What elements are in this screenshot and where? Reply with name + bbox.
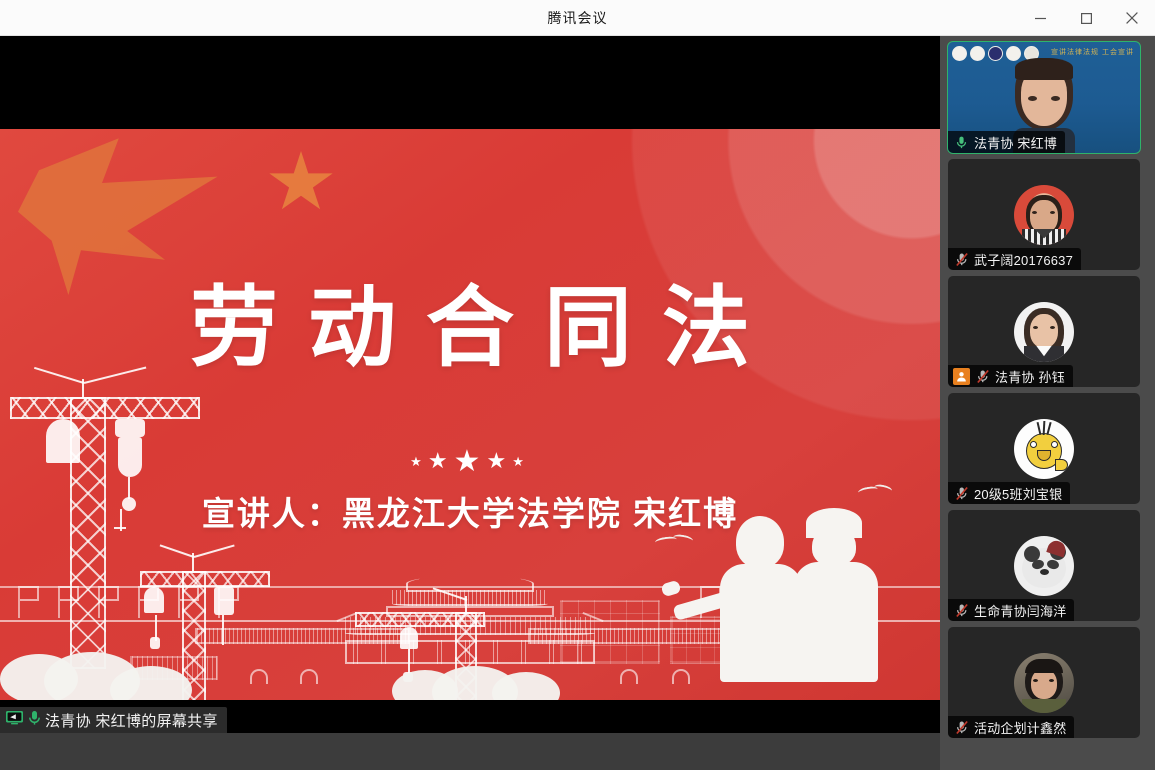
participant-tile-0[interactable]: 宣讲法律法规 工会宣讲 法青协 宋红博 <box>948 42 1140 153</box>
participant-name: 法青协 孙钰 <box>995 367 1065 386</box>
slide-title: 劳动合同法 <box>0 257 940 384</box>
maximize-button[interactable] <box>1063 0 1109 36</box>
letterbox-top <box>0 36 940 129</box>
participant-tile-1[interactable]: 武子阔20176637 <box>948 159 1140 270</box>
participant-tile-2[interactable]: 法青协 孙钰 <box>948 276 1140 387</box>
participant-nameplate: 武子阔20176637 <box>948 248 1081 270</box>
star-decoration <box>268 151 334 215</box>
participant-nameplate: 法青协 宋红博 <box>948 131 1065 153</box>
close-button[interactable] <box>1109 0 1155 36</box>
participant-nameplate: 活动企划计鑫然 <box>948 716 1074 738</box>
participant-nameplate: 20级5班刘宝银 <box>948 482 1070 504</box>
star-row-decoration: ★★★★★ <box>0 447 940 477</box>
scaffolding-decoration <box>560 600 660 664</box>
mic-on-icon <box>28 710 41 731</box>
window-title: 腾讯会议 <box>548 8 608 28</box>
participant-name: 武子阔20176637 <box>974 250 1073 269</box>
bird-icon <box>672 533 693 544</box>
mic-on-icon <box>953 134 970 151</box>
tencent-meeting-window: 腾讯会议 <box>0 0 1155 770</box>
screen-share-icon <box>5 710 24 730</box>
mic-off-icon <box>974 368 991 385</box>
shared-screen-stage[interactable]: 劳动合同法 ★★★★★ 宣讲人：黑龙江大学法学院 宋红博 <box>0 36 940 733</box>
host-badge-icon <box>953 368 970 385</box>
mic-off-icon <box>953 719 970 736</box>
screen-share-label: 法青协 宋红博的屏幕共享 <box>45 710 218 731</box>
participant-tile-4[interactable]: 生命青协闫海洋 <box>948 510 1140 621</box>
virtual-background-text: 宣讲法律法规 工会宣讲 <box>1051 47 1134 57</box>
title-bar: 腾讯会议 <box>0 0 1155 36</box>
participant-name: 20级5班刘宝银 <box>974 484 1062 503</box>
participant-name: 活动企划计鑫然 <box>974 718 1066 737</box>
screen-share-banner: 法青协 宋红博的屏幕共享 <box>0 707 227 733</box>
participant-tile-5[interactable]: 活动企划计鑫然 <box>948 627 1140 738</box>
avatar <box>1014 302 1074 362</box>
avatar <box>1014 653 1074 713</box>
mic-off-icon <box>953 485 970 502</box>
participant-nameplate: 法青协 孙钰 <box>948 365 1073 387</box>
participant-nameplate: 生命青协闫海洋 <box>948 599 1074 621</box>
mic-off-icon <box>953 602 970 619</box>
avatar <box>1014 419 1074 479</box>
window-controls <box>1017 0 1155 36</box>
participant-name: 法青协 宋红博 <box>974 133 1057 152</box>
participant-name: 生命青协闫海洋 <box>974 601 1066 620</box>
avatar <box>1014 536 1074 596</box>
presentation-slide: 劳动合同法 ★★★★★ 宣讲人：黑龙江大学法学院 宋红博 <box>0 129 940 700</box>
minimize-button[interactable] <box>1017 0 1063 36</box>
participant-tile-3[interactable]: 20级5班刘宝银 <box>948 393 1140 504</box>
participant-sidebar[interactable]: 宣讲法律法规 工会宣讲 法青协 宋红博 <box>940 36 1155 770</box>
mic-off-icon <box>953 251 970 268</box>
avatar <box>1014 185 1074 245</box>
worker-silhouettes-decoration <box>702 502 912 682</box>
